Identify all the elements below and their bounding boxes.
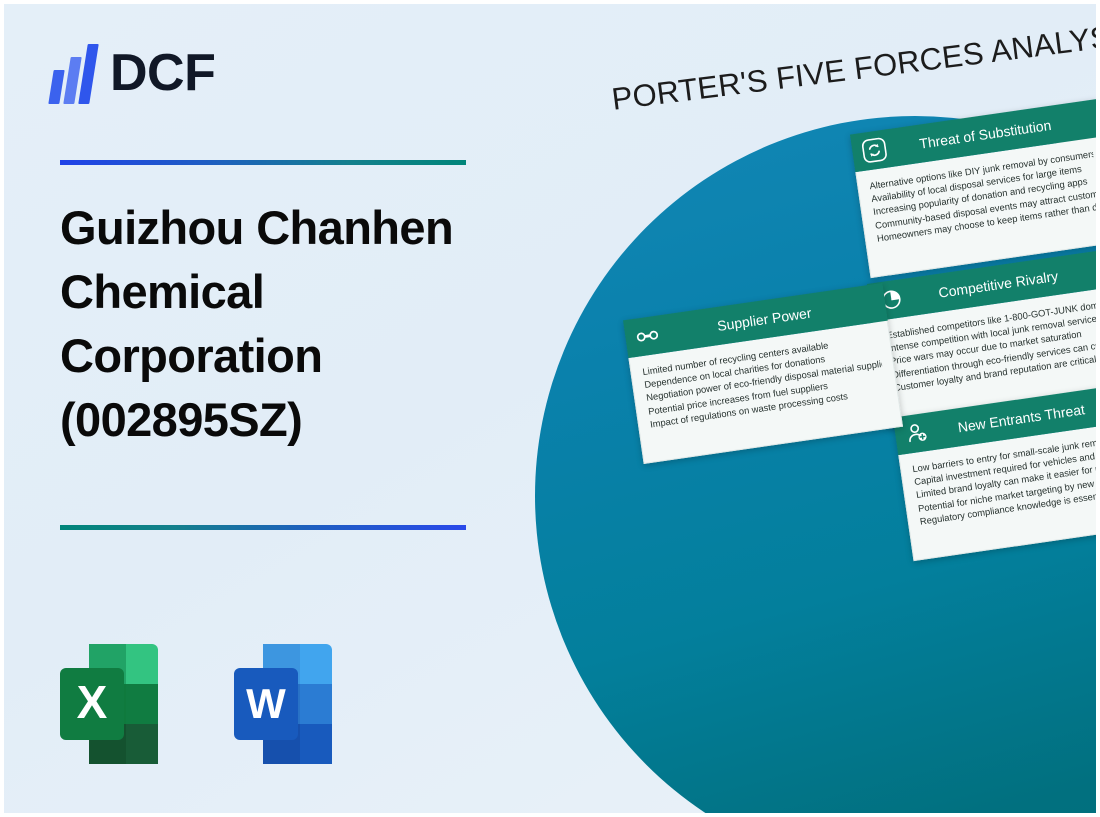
- divider-bottom: [60, 525, 466, 530]
- slide-canvas: DCF Guizhou Chanhen Chemical Corporation…: [4, 4, 1096, 813]
- word-file-icon[interactable]: W: [232, 642, 334, 766]
- attachment-icons: X W: [58, 642, 358, 766]
- brand-logo-text: DCF: [110, 44, 215, 102]
- svg-text:X: X: [77, 676, 108, 728]
- divider-top: [60, 160, 466, 165]
- page-title: Guizhou Chanhen Chemical Corporation (00…: [60, 196, 480, 452]
- bar-chart-logo-icon: [48, 42, 106, 104]
- svg-text:W: W: [246, 680, 286, 727]
- analysis-heading: PORTER'S FIVE FORCES ANALYSIS: [610, 15, 1096, 117]
- logo-bar-3: [78, 44, 99, 104]
- logo-bar-1: [48, 70, 64, 104]
- add-user-icon: [904, 420, 931, 447]
- refresh-sync-icon: [861, 137, 888, 164]
- link-chain-icon: [634, 323, 661, 350]
- brand-logo[interactable]: DCF: [48, 40, 368, 108]
- excel-file-icon[interactable]: X: [58, 642, 160, 766]
- slide-page: DCF Guizhou Chanhen Chemical Corporation…: [0, 0, 1100, 817]
